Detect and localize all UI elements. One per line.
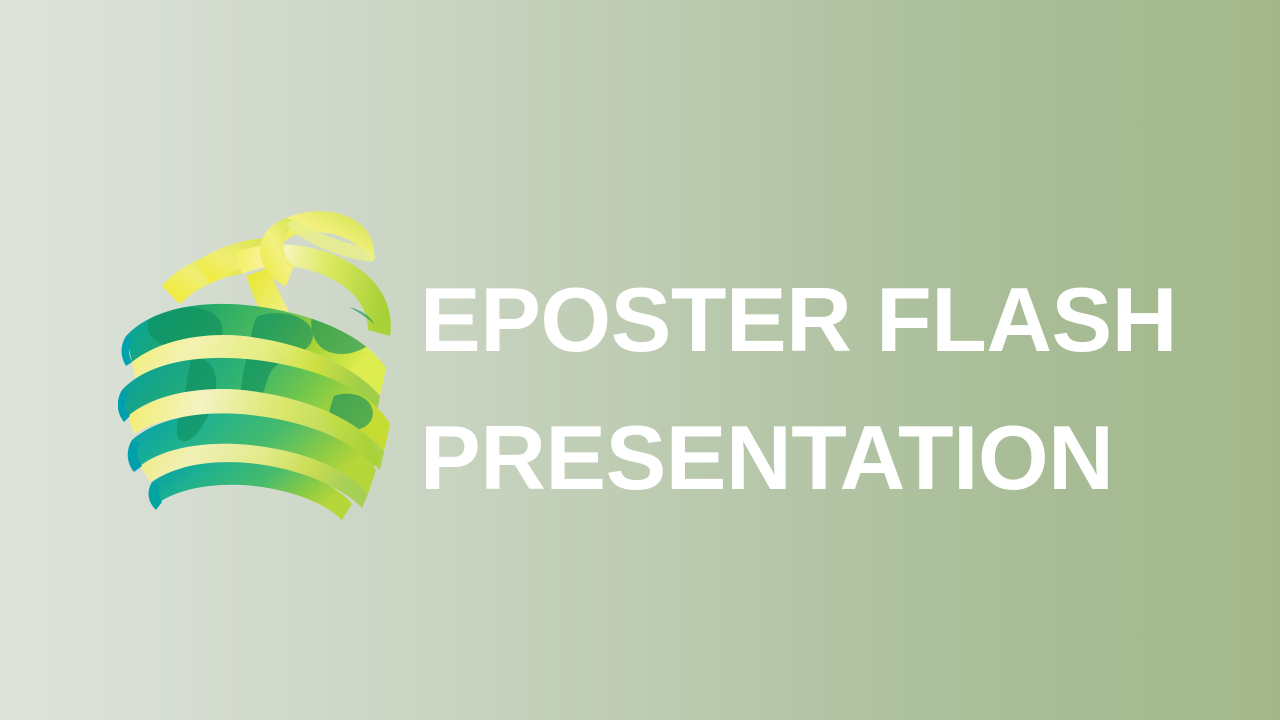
title-line-1: EPOSTER FLASH	[420, 252, 1220, 390]
slide-title: EPOSTER FLASH PRESENTATION	[420, 252, 1220, 528]
globe-ribbon-logo	[118, 200, 398, 520]
globe-ribbon-icon	[118, 200, 398, 520]
title-line-2: PRESENTATION	[420, 390, 1220, 528]
title-slide: EPOSTER FLASH PRESENTATION	[0, 0, 1280, 720]
